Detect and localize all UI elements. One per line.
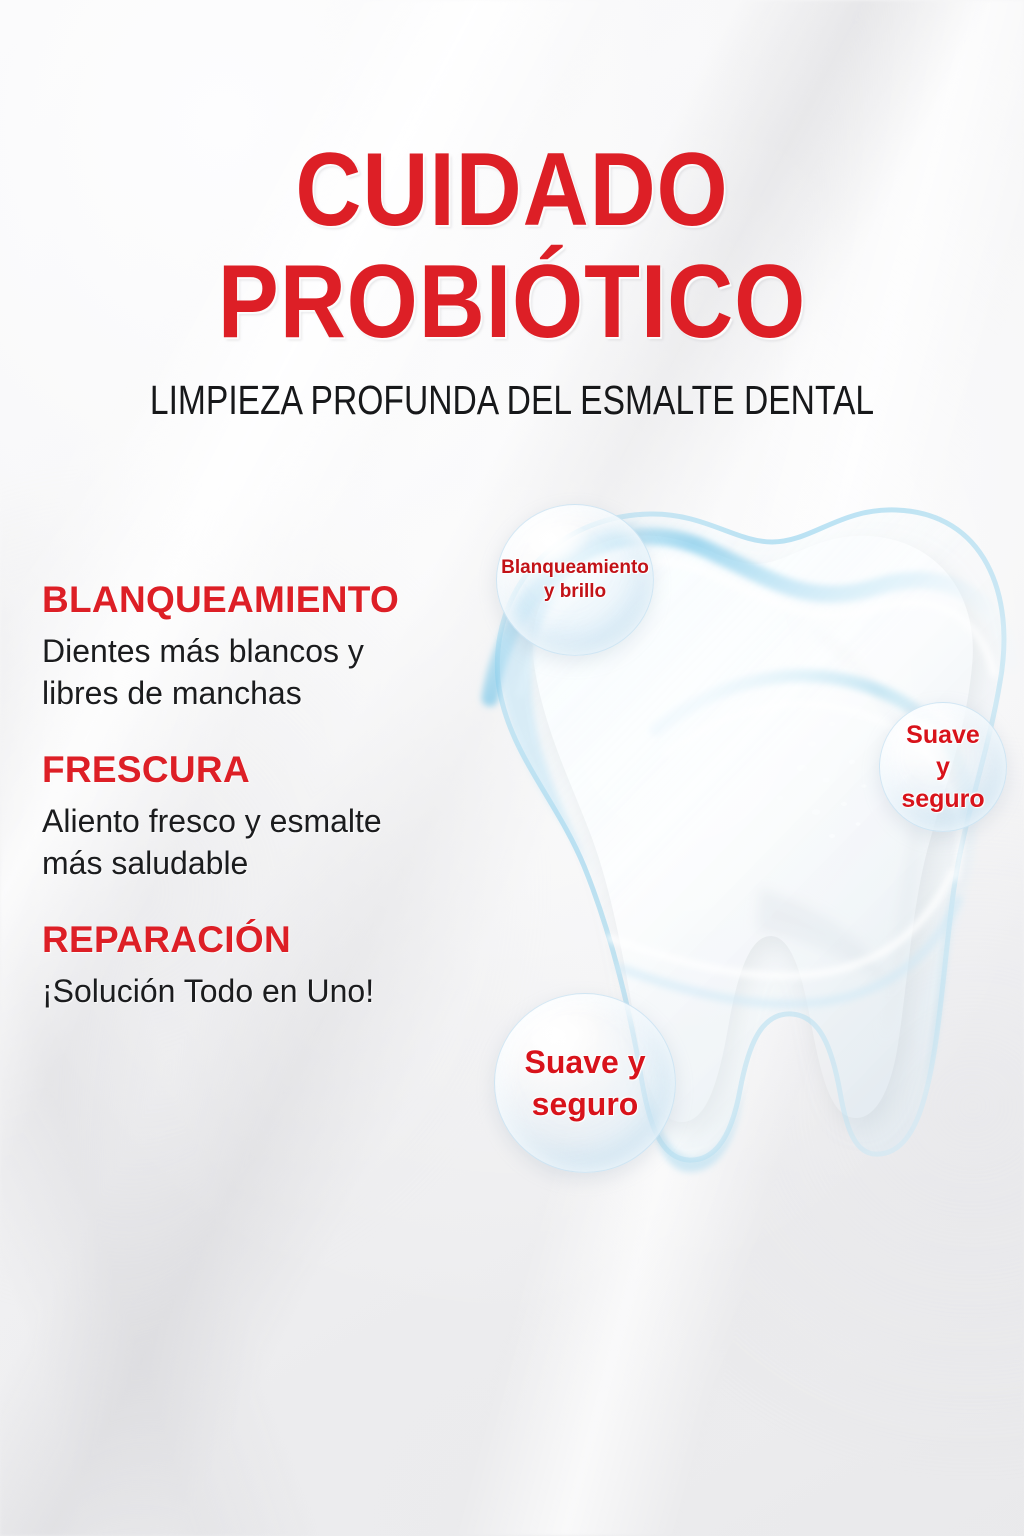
feature-title: FRESCURA: [42, 748, 482, 792]
page-subtitle: LIMPIEZA PROFUNDA DEL ESMALTE DENTAL: [92, 378, 932, 422]
page-title: CUIDADOPROBIÓTICO: [61, 134, 962, 358]
poster-canvas: CUIDADOPROBIÓTICO LIMPIEZA PROFUNDA DEL …: [0, 0, 1024, 1536]
page-title-line-1: CUIDADO: [295, 132, 728, 248]
feature-title: BLANQUEAMIENTO: [42, 578, 482, 622]
feature-title: REPARACIÓN: [42, 918, 482, 962]
bubble-safe-right-label: Suave y seguro: [901, 719, 984, 815]
bubble-safe-bottom: Suave y seguro: [494, 993, 676, 1173]
feature-item-frescura: FRESCURA Aliento fresco y esmalte más sa…: [42, 748, 482, 884]
feature-body: ¡Solución Todo en Uno!: [42, 970, 482, 1012]
feature-body: Dientes más blancos y libres de manchas: [42, 630, 482, 714]
bubble-whitening-label: Blanqueamiento y brillo: [501, 556, 649, 604]
page-title-line-2: PROBIÓTICO: [218, 244, 806, 360]
feature-item-reparacion: REPARACIÓN ¡Solución Todo en Uno!: [42, 918, 482, 1012]
bubble-safe-bottom-label: Suave y seguro: [525, 1041, 646, 1125]
feature-item-blanqueamiento: BLANQUEAMIENTO Dientes más blancos y lib…: [42, 578, 482, 714]
bubble-whitening: Blanqueamiento y brillo: [496, 504, 654, 656]
bubble-safe-right: Suave y seguro: [879, 702, 1007, 832]
feature-list: BLANQUEAMIENTO Dientes más blancos y lib…: [42, 578, 482, 1012]
feature-body: Aliento fresco y esmalte más saludable: [42, 800, 482, 884]
